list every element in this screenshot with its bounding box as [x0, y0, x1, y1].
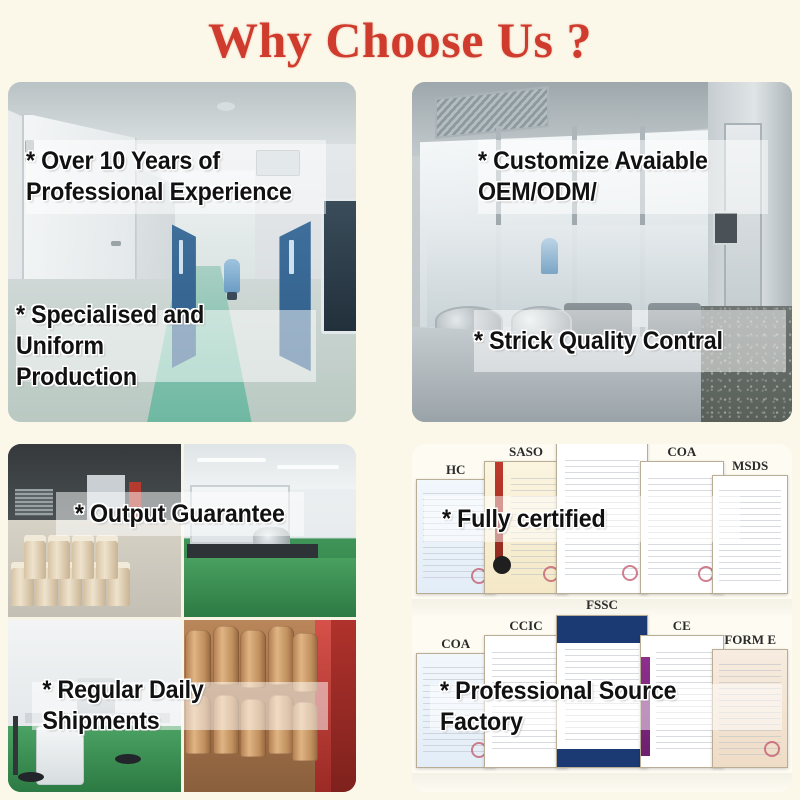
- warehouse-vent: [15, 489, 53, 517]
- caption-band-uniform-production: * Specialised and Uniform Production: [16, 310, 316, 382]
- certificate-label: COA: [441, 636, 470, 652]
- certificate-label: CCIC: [509, 618, 542, 634]
- caption-professional-source-factory: * Professional Source Factory: [440, 676, 758, 738]
- lab-stool-1: [18, 772, 44, 782]
- page-header: Why Choose Us ?: [0, 0, 800, 80]
- support-pole: [13, 716, 18, 775]
- panel-professional-experience[interactable]: * Over 10 Years of Professional Experien…: [8, 82, 356, 422]
- caption-professional-experience: * Over 10 Years of Professional Experien…: [26, 146, 292, 208]
- paper-drum-group: [8, 527, 181, 606]
- certificate-label: FORM E: [724, 632, 776, 648]
- certificate-label: CE: [673, 618, 691, 634]
- caption-output-guarantee: * Output Guarantee: [75, 499, 285, 530]
- wall-controller: [713, 211, 739, 245]
- caption-band-quality-control: * Strick Quality Contral: [474, 310, 786, 372]
- certificate-seal: [622, 565, 638, 581]
- panel-output-and-shipments[interactable]: * Output Guarantee * Regular Daily Shipm…: [8, 444, 356, 792]
- ceiling-light-2: [277, 465, 339, 469]
- certificate-wax-seal: [493, 556, 511, 574]
- feature-grid: * Over 10 Years of Professional Experien…: [8, 82, 792, 792]
- caption-customize-available: * Customize Avaiable OEM/ODM/: [478, 146, 708, 208]
- caption-band-output-guarantee: * Output Guarantee: [56, 492, 304, 536]
- worker-figure: [224, 259, 240, 293]
- corridor-window: [321, 198, 356, 334]
- caption-specialised-uniform-production: * Specialised and Uniform Production: [16, 300, 295, 393]
- lab-green-floor: [184, 558, 357, 617]
- page-title: Why Choose Us ?: [208, 11, 592, 69]
- caption-band-professional-source-factory: * Professional Source Factory: [430, 684, 782, 730]
- worker-in-gown: [541, 238, 558, 274]
- certificate-label: MSDS: [732, 458, 768, 474]
- panel-customize-oem-odm[interactable]: * Customize Avaiable OEM/ODM/ * Strick Q…: [412, 82, 792, 422]
- certificate-label: COA: [667, 444, 696, 460]
- caption-regular-daily-shipments: * Regular Daily Shipments: [42, 675, 317, 737]
- caption-band-experience: * Over 10 Years of Professional Experien…: [26, 140, 326, 214]
- shelf-reflection: [412, 773, 792, 792]
- certificate-label: SASO: [509, 444, 543, 460]
- caption-fully-certified: * Fully certified: [442, 504, 606, 535]
- certificate-label: HC: [446, 462, 466, 478]
- panel-certificates[interactable]: HC SASO SGS: [412, 444, 792, 792]
- caption-strict-quality-control: * Strick Quality Contral: [474, 326, 723, 357]
- caption-band-fully-certified: * Fully certified: [424, 496, 740, 542]
- ceiling-light-1: [197, 458, 266, 462]
- certificate-label: FSSC: [586, 597, 618, 613]
- caption-band-regular-shipments: * Regular Daily Shipments: [32, 682, 328, 730]
- caption-band-customize: * Customize Avaiable OEM/ODM/: [478, 140, 768, 214]
